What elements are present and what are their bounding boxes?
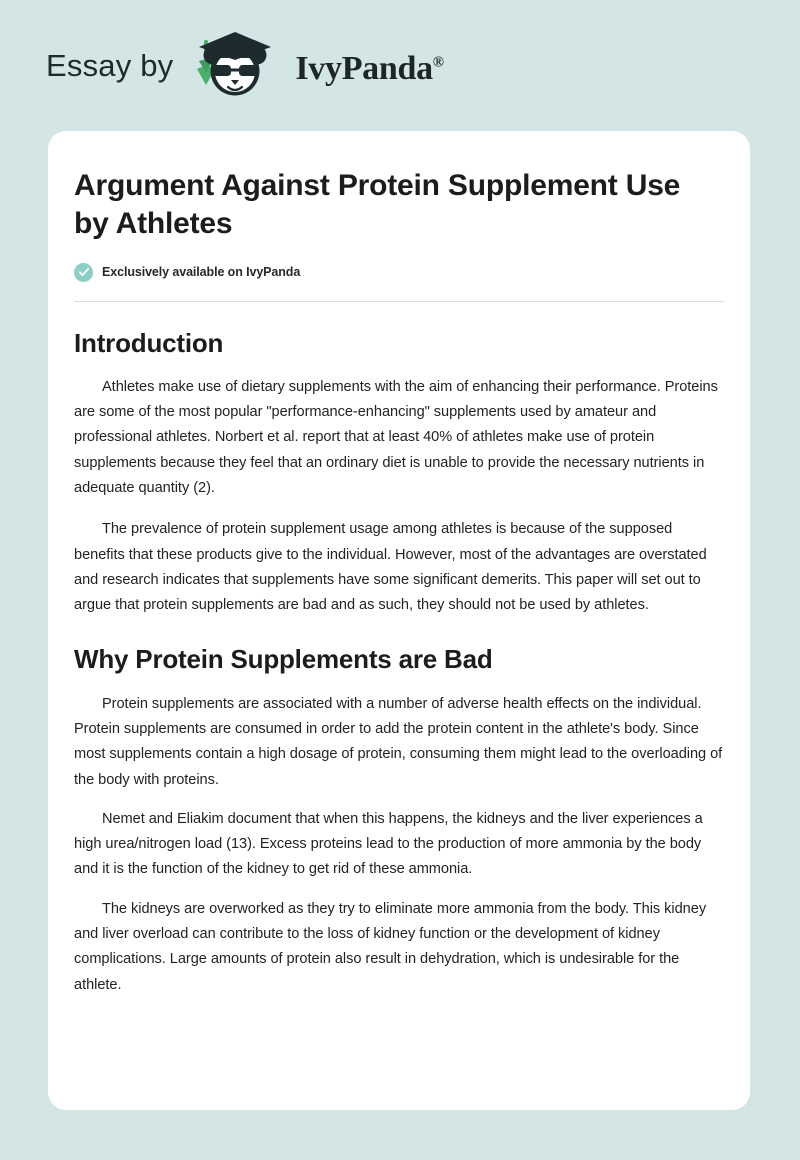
brand-name-text: IvyPanda xyxy=(295,50,432,87)
document-card: Argument Against Protein Supplement Use … xyxy=(48,131,750,1110)
essay-by-label: Essay by xyxy=(46,50,173,81)
brand-name: IvyPanda® xyxy=(295,52,443,86)
brand-lockup[interactable]: Essay by xyxy=(46,33,444,99)
page-header: Essay by xyxy=(0,0,800,131)
paragraph: The kidneys are overworked as they try t… xyxy=(74,883,724,998)
section-heading-why-protein-supplements-are-bad: Why Protein Supplements are Bad xyxy=(74,618,724,675)
check-circle-icon xyxy=(74,263,93,282)
section-heading-introduction: Introduction xyxy=(74,302,724,359)
paragraph: Athletes make use of dietary supplements… xyxy=(74,359,724,501)
paragraph: Nemet and Eliakim document that when thi… xyxy=(74,793,724,883)
document-body: Argument Against Protein Supplement Use … xyxy=(74,131,724,998)
status-badge-label: Exclusively available on IvyPanda xyxy=(102,265,300,279)
page-title: Argument Against Protein Supplement Use … xyxy=(74,131,724,243)
paragraph: The prevalence of protein supplement usa… xyxy=(74,501,724,618)
status-badge: Exclusively available on IvyPanda xyxy=(74,263,724,282)
registered-trademark-icon: ® xyxy=(433,54,444,70)
paragraph: Protein supplements are associated with … xyxy=(74,676,724,793)
ivypanda-panda-graduate-logo-icon xyxy=(185,27,285,99)
